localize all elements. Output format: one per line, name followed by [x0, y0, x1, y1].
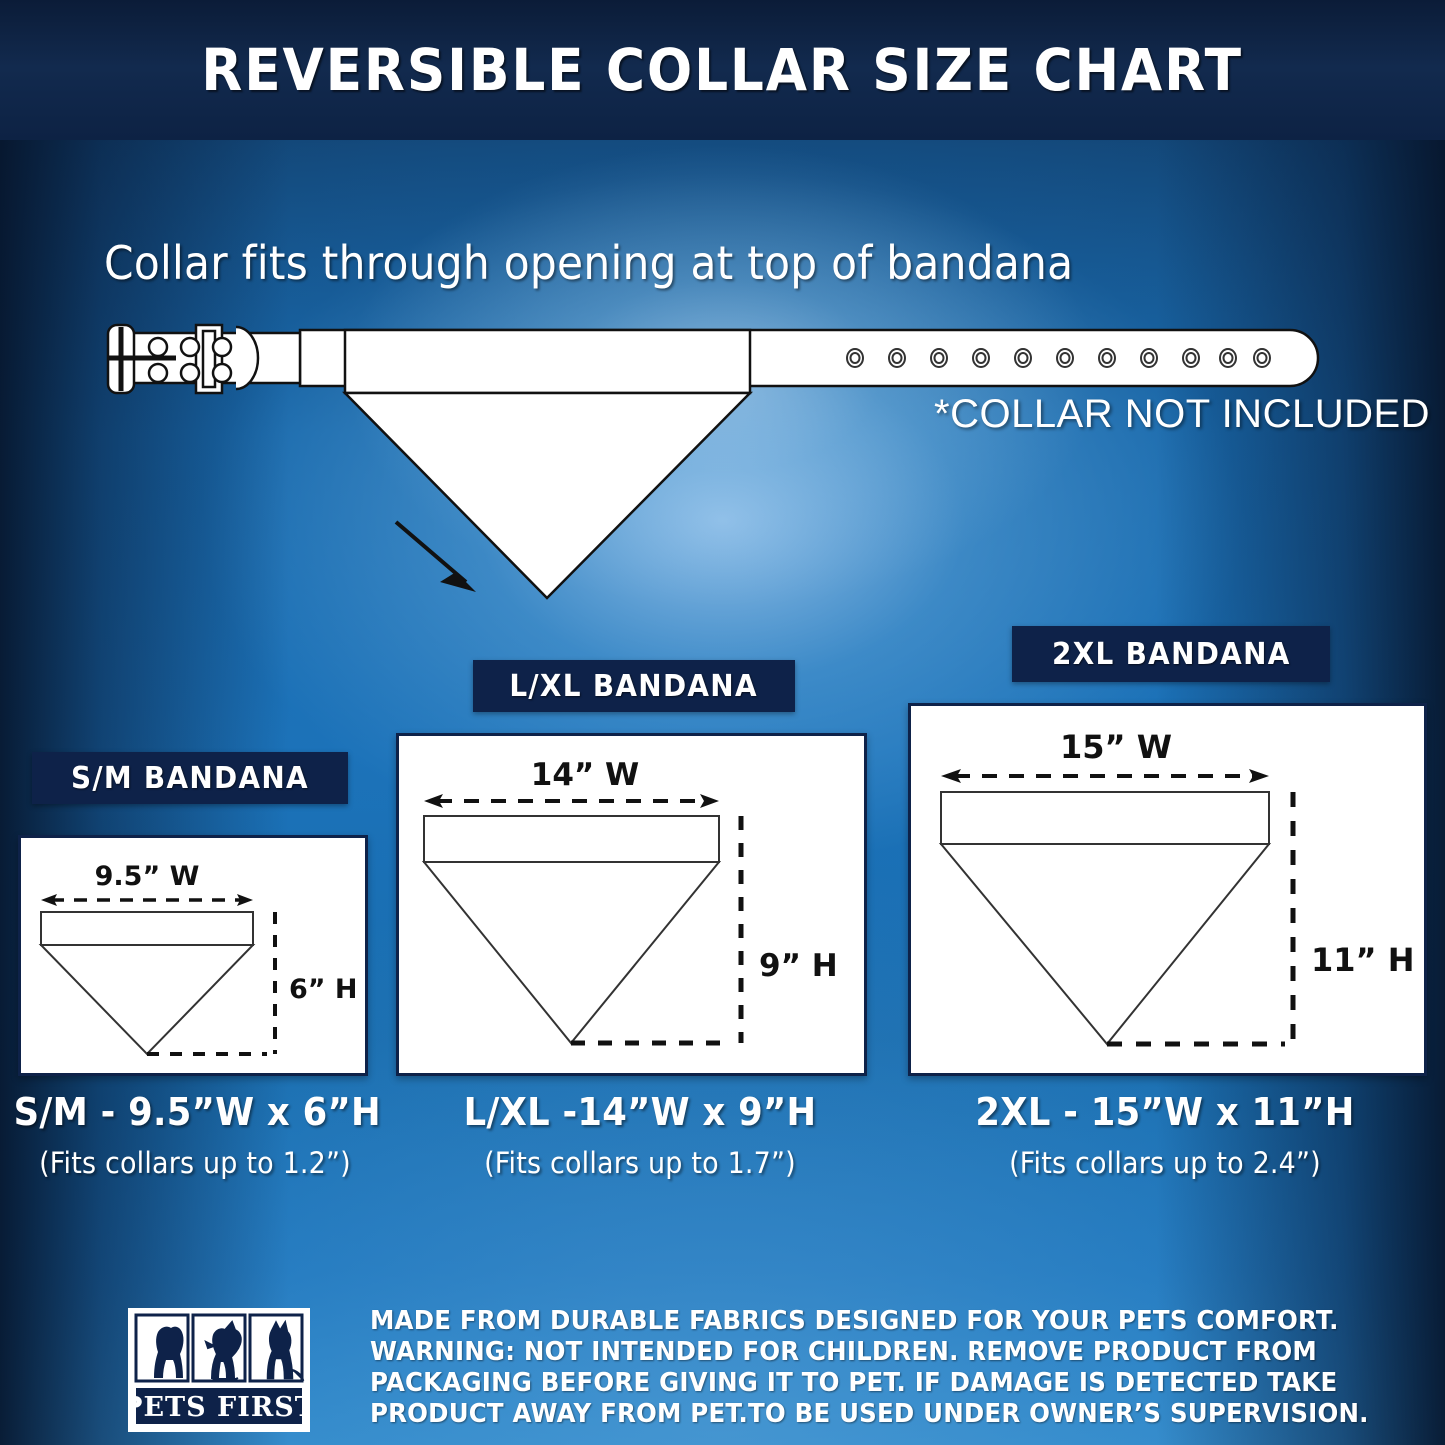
diagram-lxl: 14” W 9” H: [399, 736, 858, 1067]
bandana-collar-opening: [345, 330, 750, 393]
card-sm: 9.5” W 6” H: [18, 835, 368, 1076]
banner-sm: S/M BANDANA: [32, 752, 348, 804]
bandana-shape: [345, 330, 750, 598]
diagram-2xl: 15” W 11” H: [911, 706, 1418, 1067]
sm-height-label: 6” H: [289, 974, 358, 1005]
lxl-height-label: 9” H: [759, 948, 838, 984]
lxl-width-label: 14” W: [531, 757, 640, 793]
size-chart-infographic: REVERSIBLE COLLAR SIZE CHART Collar fits…: [0, 0, 1445, 1445]
footer-disclaimer: MADE FROM DURABLE FABRICS DESIGNED FOR Y…: [370, 1306, 1320, 1430]
2xl-width-label: 15” W: [1060, 728, 1172, 766]
pets-first-logo: PETS FIRST: [128, 1308, 310, 1432]
caption-sm: S/M - 9.5”W x 6”H (Fits collars up to 1.…: [0, 1090, 390, 1180]
pointer-arrow-icon: [396, 522, 476, 592]
card-lxl: 14” W 9” H: [396, 733, 867, 1076]
page-title: REVERSIBLE COLLAR SIZE CHART: [202, 36, 1244, 104]
caption-2xl: 2XL - 15”W x 11”H (Fits collars up to 2.…: [950, 1090, 1380, 1180]
sm-width-label: 9.5” W: [95, 861, 200, 892]
2xl-height-label: 11” H: [1311, 941, 1414, 979]
banner-lxl: L/XL BANDANA: [473, 660, 795, 712]
title-bar: REVERSIBLE COLLAR SIZE CHART: [0, 0, 1445, 140]
bandana-triangle: [345, 393, 750, 598]
logo-wordmark: PETS FIRST: [128, 1392, 310, 1423]
collar-buckle: [108, 325, 300, 393]
footer-line-1: MADE FROM DURABLE FABRICS DESIGNED FOR Y…: [370, 1306, 1320, 1337]
footer-line-3: PACKAGING BEFORE GIVING IT TO PET. IF DA…: [370, 1368, 1320, 1399]
collar-and-bandana-illustration: [0, 230, 1445, 630]
footer-line-4: PRODUCT AWAY FROM PET.TO BE USED UNDER O…: [370, 1399, 1320, 1430]
footer-line-2: WARNING: NOT INTENDED FOR CHILDREN. REMO…: [370, 1337, 1320, 1368]
banner-2xl: 2XL BANDANA: [1012, 626, 1330, 682]
diagram-sm: 9.5” W 6” H: [21, 838, 359, 1067]
caption-lxl: L/XL -14”W x 9”H (Fits collars up to 1.7…: [440, 1090, 840, 1180]
card-2xl: 15” W 11” H: [908, 703, 1427, 1076]
